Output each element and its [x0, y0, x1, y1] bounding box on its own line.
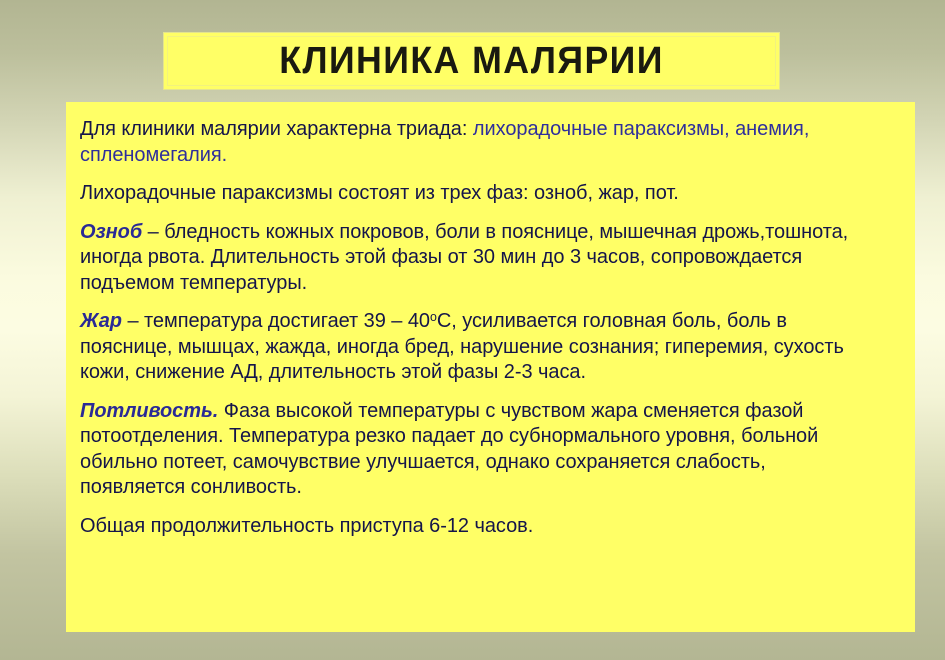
body-text: – температура достигает 39 – 40 — [122, 309, 430, 332]
body-text: Для клиники малярии характерна триада: — [80, 117, 473, 140]
slide-canvas: КЛИНИКА МАЛЯРИИ Для клиники малярии хара… — [0, 0, 945, 660]
paragraph-sweating: Потливость. Фаза высокой температуры с ч… — [80, 398, 873, 500]
page-title: КЛИНИКА МАЛЯРИИ — [279, 42, 664, 80]
title-plate: КЛИНИКА МАЛЯРИИ — [163, 32, 780, 90]
body-text: Общая продолжительность приступа 6-12 ча… — [80, 514, 533, 537]
body-text: Лихорадочные параксизмы состоят из трех … — [80, 181, 679, 204]
content-plate: Для клиники малярии характерна триада: л… — [66, 102, 915, 632]
paragraph-chill: Озноб – бледность кожных покровов, боли … — [80, 219, 873, 296]
phase-label: Жар — [80, 309, 122, 332]
paragraph-triad: Для клиники малярии характерна триада: л… — [80, 116, 873, 167]
paragraph-duration: Общая продолжительность приступа 6-12 ча… — [80, 513, 873, 539]
paragraph-three-phases: Лихорадочные параксизмы состоят из трех … — [80, 180, 873, 206]
body-text: – бледность кожных покровов, боли в пояс… — [80, 220, 848, 294]
phase-label: Потливость. — [80, 399, 218, 422]
paragraph-fever: Жар – температура достигает 39 – 40oC, у… — [80, 308, 873, 385]
phase-label: Озноб — [80, 220, 142, 243]
degree-superscript: o — [430, 309, 437, 324]
